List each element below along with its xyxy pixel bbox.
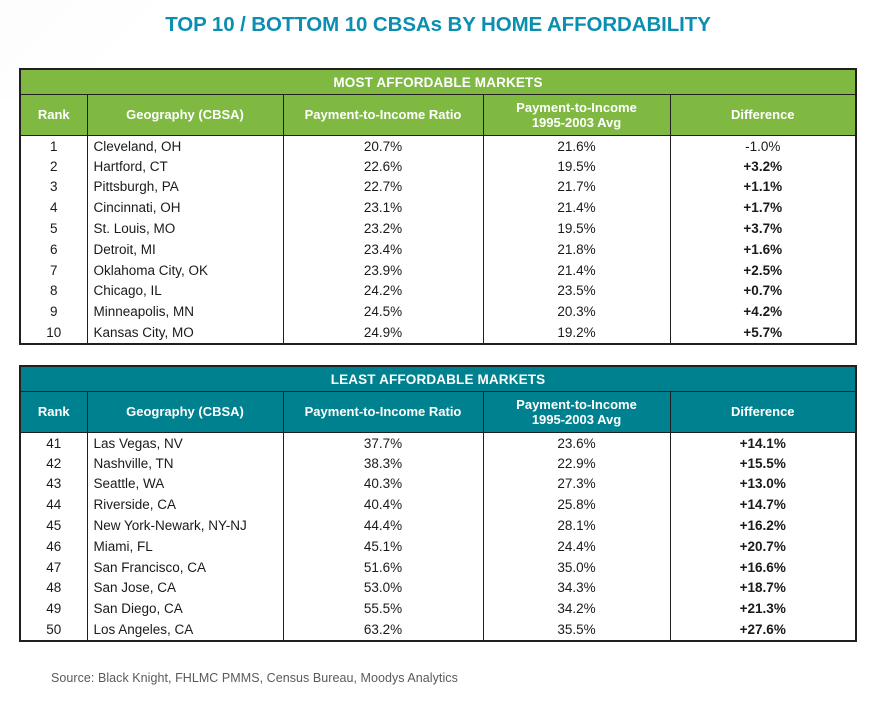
table-header-row: Rank Geography (CBSA) Payment-to-Income …	[21, 392, 855, 432]
column-header-rank: Rank	[21, 392, 87, 432]
cell-payment-to-income-avg: 23.6%	[483, 432, 670, 453]
cell-difference: +13.0%	[670, 474, 855, 495]
cell-payment-to-income-avg: 19.5%	[483, 156, 670, 177]
table-most-affordable: MOST AFFORDABLE MARKETS Rank Geography (…	[19, 68, 857, 345]
cell-rank: 2	[21, 156, 87, 177]
column-header-geography: Geography (CBSA)	[87, 392, 283, 432]
source-note: Source: Black Knight, FHLMC PMMS, Census…	[51, 671, 458, 685]
cell-rank: 42	[21, 453, 87, 474]
cell-geography: Cincinnati, OH	[87, 197, 283, 218]
cell-payment-to-income-avg: 21.6%	[483, 135, 670, 156]
column-header-avg-line1: Payment-to-Income	[516, 397, 637, 412]
cell-rank: 44	[21, 494, 87, 515]
cell-rank: 8	[21, 281, 87, 302]
cell-payment-to-income-avg: 35.5%	[483, 619, 670, 640]
table-row: 9Minneapolis, MN24.5%20.3%+4.2%	[21, 301, 855, 322]
table-row: 10Kansas City, MO24.9%19.2%+5.7%	[21, 322, 855, 343]
cell-rank: 9	[21, 301, 87, 322]
column-header-difference: Difference	[670, 392, 855, 432]
cell-payment-to-income-avg: 20.3%	[483, 301, 670, 322]
cell-payment-to-income-ratio: 23.9%	[283, 260, 483, 281]
cell-rank: 3	[21, 177, 87, 198]
cell-payment-to-income-ratio: 45.1%	[283, 536, 483, 557]
cell-rank: 4	[21, 197, 87, 218]
cell-payment-to-income-ratio: 24.9%	[283, 322, 483, 343]
cell-geography: San Francisco, CA	[87, 557, 283, 578]
cell-rank: 43	[21, 474, 87, 495]
column-header-avg-line1: Payment-to-Income	[516, 100, 637, 115]
cell-payment-to-income-avg: 34.3%	[483, 578, 670, 599]
cell-rank: 5	[21, 218, 87, 239]
cell-difference: +1.6%	[670, 239, 855, 260]
cell-payment-to-income-avg: 19.2%	[483, 322, 670, 343]
cell-difference: +14.7%	[670, 494, 855, 515]
cell-rank: 1	[21, 135, 87, 156]
cell-difference: +2.5%	[670, 260, 855, 281]
cell-difference: +27.6%	[670, 619, 855, 640]
cell-difference: +16.2%	[670, 515, 855, 536]
data-table-most-affordable: Rank Geography (CBSA) Payment-to-Income …	[21, 95, 855, 343]
cell-geography: Chicago, IL	[87, 281, 283, 302]
cell-payment-to-income-ratio: 44.4%	[283, 515, 483, 536]
table-row: 45New York-Newark, NY-NJ44.4%28.1%+16.2%	[21, 515, 855, 536]
cell-geography: Seattle, WA	[87, 474, 283, 495]
cell-geography: Miami, FL	[87, 536, 283, 557]
cell-payment-to-income-ratio: 38.3%	[283, 453, 483, 474]
cell-payment-to-income-ratio: 51.6%	[283, 557, 483, 578]
page-title: TOP 10 / BOTTOM 10 CBSAs BY HOME AFFORDA…	[0, 13, 876, 37]
table-banner-most-affordable: MOST AFFORDABLE MARKETS	[21, 70, 855, 95]
cell-payment-to-income-ratio: 23.4%	[283, 239, 483, 260]
table-row: 46Miami, FL45.1%24.4%+20.7%	[21, 536, 855, 557]
cell-difference: +0.7%	[670, 281, 855, 302]
cell-payment-to-income-avg: 19.5%	[483, 218, 670, 239]
cell-geography: St. Louis, MO	[87, 218, 283, 239]
cell-geography: New York-Newark, NY-NJ	[87, 515, 283, 536]
table-row: 42Nashville, TN38.3%22.9%+15.5%	[21, 453, 855, 474]
cell-payment-to-income-avg: 28.1%	[483, 515, 670, 536]
cell-rank: 45	[21, 515, 87, 536]
cell-rank: 50	[21, 619, 87, 640]
column-header-avg-line2: 1995-2003 Avg	[532, 412, 621, 427]
table-row: 8Chicago, IL24.2%23.5%+0.7%	[21, 281, 855, 302]
cell-payment-to-income-ratio: 23.1%	[283, 197, 483, 218]
table-row: 50Los Angeles, CA63.2%35.5%+27.6%	[21, 619, 855, 640]
cell-difference: +16.6%	[670, 557, 855, 578]
cell-payment-to-income-avg: 35.0%	[483, 557, 670, 578]
cell-payment-to-income-avg: 25.8%	[483, 494, 670, 515]
cell-rank: 10	[21, 322, 87, 343]
table-row: 7Oklahoma City, OK23.9%21.4%+2.5%	[21, 260, 855, 281]
cell-rank: 41	[21, 432, 87, 453]
cell-payment-to-income-ratio: 22.7%	[283, 177, 483, 198]
cell-rank: 49	[21, 598, 87, 619]
cell-payment-to-income-avg: 21.7%	[483, 177, 670, 198]
cell-payment-to-income-avg: 27.3%	[483, 474, 670, 495]
cell-geography: Kansas City, MO	[87, 322, 283, 343]
cell-geography: Detroit, MI	[87, 239, 283, 260]
column-header-avg-line2: 1995-2003 Avg	[532, 115, 621, 130]
cell-payment-to-income-avg: 22.9%	[483, 453, 670, 474]
table-row: 41Las Vegas, NV37.7%23.6%+14.1%	[21, 432, 855, 453]
cell-payment-to-income-avg: 24.4%	[483, 536, 670, 557]
column-header-avg: Payment-to-Income 1995-2003 Avg	[483, 392, 670, 432]
cell-difference: +3.7%	[670, 218, 855, 239]
cell-payment-to-income-avg: 23.5%	[483, 281, 670, 302]
table-row: 43Seattle, WA40.3%27.3%+13.0%	[21, 474, 855, 495]
cell-difference: +20.7%	[670, 536, 855, 557]
table-row: 3Pittsburgh, PA22.7%21.7%+1.1%	[21, 177, 855, 198]
cell-difference: +1.1%	[670, 177, 855, 198]
cell-difference: +15.5%	[670, 453, 855, 474]
cell-payment-to-income-ratio: 23.2%	[283, 218, 483, 239]
data-table-least-affordable: Rank Geography (CBSA) Payment-to-Income …	[21, 392, 855, 640]
cell-payment-to-income-ratio: 40.4%	[283, 494, 483, 515]
cell-payment-to-income-ratio: 53.0%	[283, 578, 483, 599]
cell-payment-to-income-ratio: 37.7%	[283, 432, 483, 453]
cell-geography: Pittsburgh, PA	[87, 177, 283, 198]
cell-difference: +18.7%	[670, 578, 855, 599]
table-row: 4Cincinnati, OH23.1%21.4%+1.7%	[21, 197, 855, 218]
table-row: 1Cleveland, OH20.7%21.6%-1.0%	[21, 135, 855, 156]
cell-payment-to-income-ratio: 55.5%	[283, 598, 483, 619]
cell-rank: 47	[21, 557, 87, 578]
table-row: 5St. Louis, MO23.2%19.5%+3.7%	[21, 218, 855, 239]
table-banner-least-affordable: LEAST AFFORDABLE MARKETS	[21, 367, 855, 392]
cell-payment-to-income-ratio: 40.3%	[283, 474, 483, 495]
cell-difference: +4.2%	[670, 301, 855, 322]
column-header-ratio: Payment-to-Income Ratio	[283, 95, 483, 135]
cell-payment-to-income-avg: 21.8%	[483, 239, 670, 260]
table-body-most-affordable: 1Cleveland, OH20.7%21.6%-1.0%2Hartford, …	[21, 135, 855, 343]
cell-difference: +14.1%	[670, 432, 855, 453]
cell-geography: Minneapolis, MN	[87, 301, 283, 322]
cell-geography: Las Vegas, NV	[87, 432, 283, 453]
table-row: 48San Jose, CA53.0%34.3%+18.7%	[21, 578, 855, 599]
report-page: TOP 10 / BOTTOM 10 CBSAs BY HOME AFFORDA…	[0, 0, 876, 703]
cell-payment-to-income-ratio: 63.2%	[283, 619, 483, 640]
cell-difference: +3.2%	[670, 156, 855, 177]
cell-payment-to-income-avg: 34.2%	[483, 598, 670, 619]
table-row: 6Detroit, MI23.4%21.8%+1.6%	[21, 239, 855, 260]
cell-geography: San Diego, CA	[87, 598, 283, 619]
table-row: 2Hartford, CT22.6%19.5%+3.2%	[21, 156, 855, 177]
cell-difference: +21.3%	[670, 598, 855, 619]
column-header-geography: Geography (CBSA)	[87, 95, 283, 135]
cell-payment-to-income-ratio: 22.6%	[283, 156, 483, 177]
column-header-difference: Difference	[670, 95, 855, 135]
table-row: 49San Diego, CA55.5%34.2%+21.3%	[21, 598, 855, 619]
cell-geography: Cleveland, OH	[87, 135, 283, 156]
cell-rank: 46	[21, 536, 87, 557]
table-header-row: Rank Geography (CBSA) Payment-to-Income …	[21, 95, 855, 135]
cell-geography: Nashville, TN	[87, 453, 283, 474]
cell-difference: -1.0%	[670, 135, 855, 156]
cell-payment-to-income-avg: 21.4%	[483, 197, 670, 218]
table-row: 47San Francisco, CA51.6%35.0%+16.6%	[21, 557, 855, 578]
cell-payment-to-income-ratio: 24.5%	[283, 301, 483, 322]
cell-geography: Hartford, CT	[87, 156, 283, 177]
cell-payment-to-income-ratio: 24.2%	[283, 281, 483, 302]
cell-rank: 6	[21, 239, 87, 260]
cell-difference: +5.7%	[670, 322, 855, 343]
cell-payment-to-income-ratio: 20.7%	[283, 135, 483, 156]
column-header-avg: Payment-to-Income 1995-2003 Avg	[483, 95, 670, 135]
column-header-rank: Rank	[21, 95, 87, 135]
table-row: 44Riverside, CA40.4%25.8%+14.7%	[21, 494, 855, 515]
cell-geography: Los Angeles, CA	[87, 619, 283, 640]
cell-geography: San Jose, CA	[87, 578, 283, 599]
cell-geography: Oklahoma City, OK	[87, 260, 283, 281]
cell-difference: +1.7%	[670, 197, 855, 218]
cell-geography: Riverside, CA	[87, 494, 283, 515]
table-least-affordable: LEAST AFFORDABLE MARKETS Rank Geography …	[19, 365, 857, 642]
cell-rank: 48	[21, 578, 87, 599]
column-header-ratio: Payment-to-Income Ratio	[283, 392, 483, 432]
cell-payment-to-income-avg: 21.4%	[483, 260, 670, 281]
table-body-least-affordable: 41Las Vegas, NV37.7%23.6%+14.1%42Nashvil…	[21, 432, 855, 640]
cell-rank: 7	[21, 260, 87, 281]
